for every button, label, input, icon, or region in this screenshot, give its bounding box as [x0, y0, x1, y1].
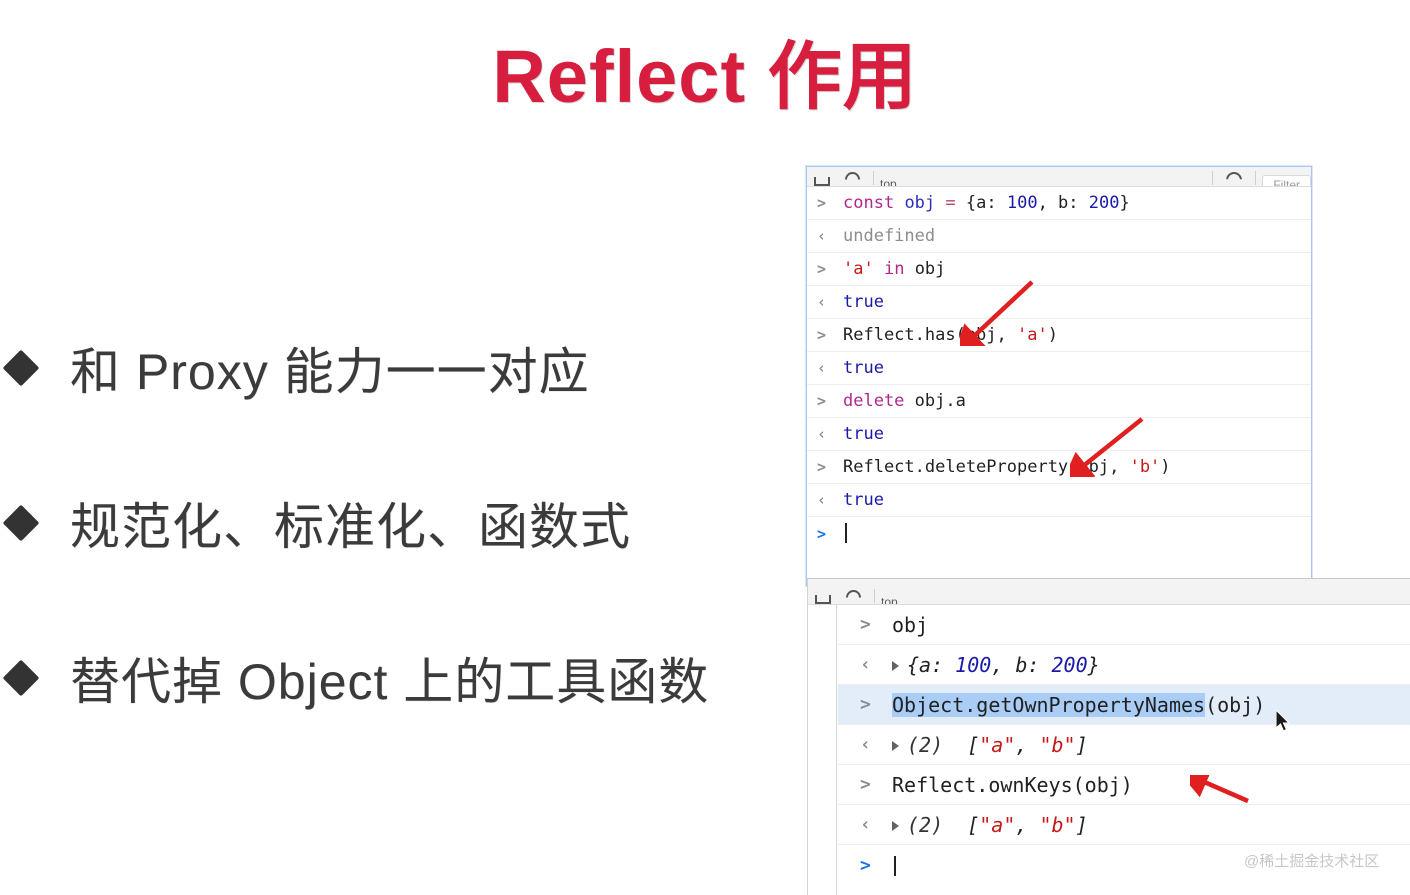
console-output-marker-icon: ‹	[817, 359, 843, 377]
console-prompt-marker-icon: >	[860, 855, 892, 876]
code-token: delete	[843, 391, 904, 411]
code-token	[935, 193, 945, 213]
code-token: true	[843, 424, 884, 444]
console-row-content: Object.getOwnPropertyNames(obj)	[892, 693, 1410, 717]
console-prompt-marker-icon: >	[860, 614, 892, 635]
bullet-item-0: 和 Proxy 能力一一对应	[0, 290, 800, 445]
code-token: "a"	[979, 813, 1015, 837]
code-token: obj.a	[904, 391, 965, 411]
code-token: Object.getOwnPropertyNames	[892, 693, 1205, 717]
mouse-cursor-icon	[1276, 710, 1292, 734]
code-token: 200	[1052, 653, 1088, 677]
code-token: 'a'	[843, 259, 874, 279]
context-selector-top[interactable]: top	[880, 177, 897, 187]
code-token: undefined	[843, 226, 935, 246]
code-token: , b:	[991, 653, 1051, 677]
device-toolbar-icon-bottom[interactable]	[838, 584, 868, 604]
console-row-prompt[interactable]: >	[807, 517, 1311, 550]
console-prompt-marker-icon: >	[817, 392, 843, 410]
console-row-input: >delete obj.a	[807, 385, 1311, 418]
console-row-input: >obj	[838, 605, 1410, 645]
console-output-marker-icon: ‹	[817, 293, 843, 311]
devtools-toolbar-top[interactable]: top Filter	[807, 167, 1311, 187]
console-row-content: Reflect.has(obj, 'a')	[843, 325, 1311, 345]
code-token: obj	[904, 193, 935, 213]
code-token: , b:	[1038, 193, 1089, 213]
diamond-bullet-icon	[3, 659, 40, 696]
console-row-content: const obj = {a: 100, b: 200}	[843, 193, 1311, 213]
code-token	[874, 259, 884, 279]
watermark: @稀土掘金技术社区	[1244, 850, 1379, 871]
code-token: true	[843, 358, 884, 378]
toolbar-divider	[873, 171, 874, 185]
live-expression-icon[interactable]	[1219, 167, 1249, 186]
code-token: Reflect.has(obj,	[843, 325, 1017, 345]
code-token: =	[945, 193, 955, 213]
code-token: [	[943, 813, 979, 837]
inspect-element-icon-bottom[interactable]	[808, 584, 838, 604]
text-caret	[845, 523, 847, 543]
console-output-marker-icon: ‹	[817, 425, 843, 443]
code-token: 100	[955, 653, 991, 677]
code-token: [	[943, 733, 979, 757]
code-token: true	[843, 490, 884, 510]
devtools-toolbar-bottom[interactable]: top	[808, 579, 1410, 605]
device-toolbar-icon[interactable]	[837, 167, 867, 186]
code-token: 200	[1089, 193, 1120, 213]
console-row-content: true	[843, 358, 1311, 378]
code-token: {a:	[956, 193, 1007, 213]
code-token: const	[843, 193, 894, 213]
console-row-input: >Reflect.has(obj, 'a')	[807, 319, 1311, 352]
code-token: "b"	[1039, 733, 1075, 757]
bullet-list: 和 Proxy 能力一一对应规范化、标准化、函数式替代掉 Object 上的工具…	[0, 290, 800, 755]
code-token: in	[884, 259, 904, 279]
context-selector-bottom[interactable]: top	[881, 595, 898, 605]
code-token: 100	[1007, 193, 1038, 213]
bullet-item-label: 规范化、标准化、函数式	[70, 487, 631, 559]
code-token: ]	[1076, 813, 1088, 837]
code-token: ,	[1015, 733, 1039, 757]
console-row-list-top: >const obj = {a: 100, b: 200}‹undefined>…	[807, 187, 1311, 550]
diamond-bullet-icon	[3, 504, 40, 541]
diamond-bullet-icon	[3, 349, 40, 386]
toolbar-divider-2	[1212, 171, 1213, 185]
text-caret	[894, 856, 896, 876]
console-row-content: (2) ["a", "b"]	[892, 733, 1410, 757]
code-token: true	[843, 292, 884, 312]
bullet-item-label: 和 Proxy 能力一一对应	[70, 332, 590, 404]
console-row-content: delete obj.a	[843, 391, 1311, 411]
code-token: ,	[1015, 813, 1039, 837]
code-token: }	[1119, 193, 1129, 213]
devtools-console-panel-bottom[interactable]: top >obj‹{a: 100, b: 200}>Object.getOwnP…	[807, 578, 1410, 895]
console-prompt-marker-icon: >	[817, 458, 843, 476]
console-prompt-marker-icon: >	[817, 525, 843, 543]
console-row-input: >Object.getOwnPropertyNames(obj)	[838, 685, 1410, 725]
console-row-list-bottom: >obj‹{a: 100, b: 200}>Object.getOwnPrope…	[838, 605, 1410, 885]
console-row-input: >Reflect.deleteProperty(obj, 'b')	[807, 451, 1311, 484]
console-row-output: ‹undefined	[807, 220, 1311, 253]
code-token: )	[1160, 457, 1170, 477]
code-token: (obj)	[1205, 693, 1265, 717]
console-row-content[interactable]	[843, 523, 1311, 544]
filter-input[interactable]: Filter	[1262, 175, 1311, 187]
console-row-content: undefined	[843, 226, 1311, 246]
code-token: 'a'	[1017, 325, 1048, 345]
console-row-content: true	[843, 490, 1311, 510]
code-token	[894, 193, 904, 213]
console-row-output: ‹(2) ["a", "b"]	[838, 725, 1410, 765]
disclosure-triangle-icon[interactable]	[892, 741, 899, 751]
console-row-content: Reflect.ownKeys(obj)	[892, 773, 1410, 797]
code-token: (2)	[907, 813, 943, 837]
code-token: obj	[904, 259, 945, 279]
console-row-content: Reflect.deleteProperty(obj, 'b')	[843, 457, 1311, 477]
console-prompt-marker-icon: >	[817, 260, 843, 278]
code-token: "a"	[979, 733, 1015, 757]
bullet-item-1: 规范化、标准化、函数式	[0, 445, 800, 600]
code-token: Reflect.ownKeys(obj)	[892, 773, 1133, 797]
code-token: }	[1088, 653, 1100, 677]
console-prompt-marker-icon: >	[817, 326, 843, 344]
code-token: "b"	[1039, 813, 1075, 837]
console-sidebar-rail	[808, 605, 837, 895]
code-token: 'b'	[1130, 457, 1161, 477]
console-output-marker-icon: ‹	[860, 734, 892, 755]
code-token: Reflect.deleteProperty(obj,	[843, 457, 1130, 477]
console-row-output: ‹true	[807, 286, 1311, 319]
code-token: {a:	[907, 653, 955, 677]
inspect-element-icon[interactable]	[807, 167, 837, 186]
console-prompt-marker-icon: >	[860, 694, 892, 715]
console-row-input: >'a' in obj	[807, 253, 1311, 286]
toolbar-divider-bottom	[874, 589, 875, 603]
disclosure-triangle-icon[interactable]	[892, 661, 899, 671]
code-token: (2)	[907, 733, 943, 757]
console-row-output: ‹true	[807, 484, 1311, 517]
disclosure-triangle-icon[interactable]	[892, 821, 899, 831]
console-row-output: ‹(2) ["a", "b"]	[838, 805, 1410, 845]
code-token: )	[1048, 325, 1058, 345]
console-output-marker-icon: ‹	[860, 814, 892, 835]
toolbar-divider-3	[1255, 171, 1256, 185]
console-row-content: true	[843, 292, 1311, 312]
console-row-content: obj	[892, 613, 1410, 637]
console-output-marker-icon: ‹	[817, 227, 843, 245]
console-prompt-marker-icon: >	[860, 774, 892, 795]
console-row-input: >const obj = {a: 100, b: 200}	[807, 187, 1311, 220]
console-output-marker-icon: ‹	[817, 491, 843, 509]
console-row-content: (2) ["a", "b"]	[892, 813, 1410, 837]
devtools-console-panel-top[interactable]: top Filter >const obj = {a: 100, b: 200}…	[806, 166, 1312, 586]
console-row-content: true	[843, 424, 1311, 444]
console-row-output: ‹{a: 100, b: 200}	[838, 645, 1410, 685]
code-token: obj	[892, 613, 928, 637]
console-row-content: 'a' in obj	[843, 259, 1311, 279]
console-row-input: >Reflect.ownKeys(obj)	[838, 765, 1410, 805]
bullet-item-label: 替代掉 Object 上的工具函数	[70, 642, 709, 714]
console-row-content: {a: 100, b: 200}	[892, 653, 1410, 677]
code-token: ]	[1076, 733, 1088, 757]
bullet-item-2: 替代掉 Object 上的工具函数	[0, 600, 800, 755]
page-title: Reflect 作用	[0, 38, 1410, 116]
console-output-marker-icon: ‹	[860, 654, 892, 675]
console-row-output: ‹true	[807, 418, 1311, 451]
console-row-output: ‹true	[807, 352, 1311, 385]
console-prompt-marker-icon: >	[817, 194, 843, 212]
